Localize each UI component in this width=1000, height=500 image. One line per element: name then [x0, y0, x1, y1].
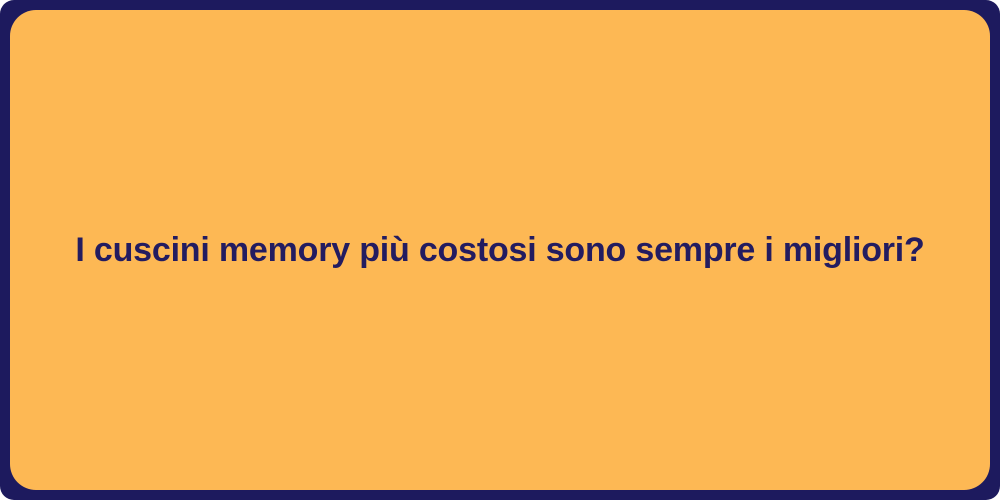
card-frame: I cuscini memory più costosi sono sempre… [0, 0, 1000, 500]
headline-text: I cuscini memory più costosi sono sempre… [75, 229, 924, 272]
card-panel: I cuscini memory più costosi sono sempre… [10, 10, 990, 490]
